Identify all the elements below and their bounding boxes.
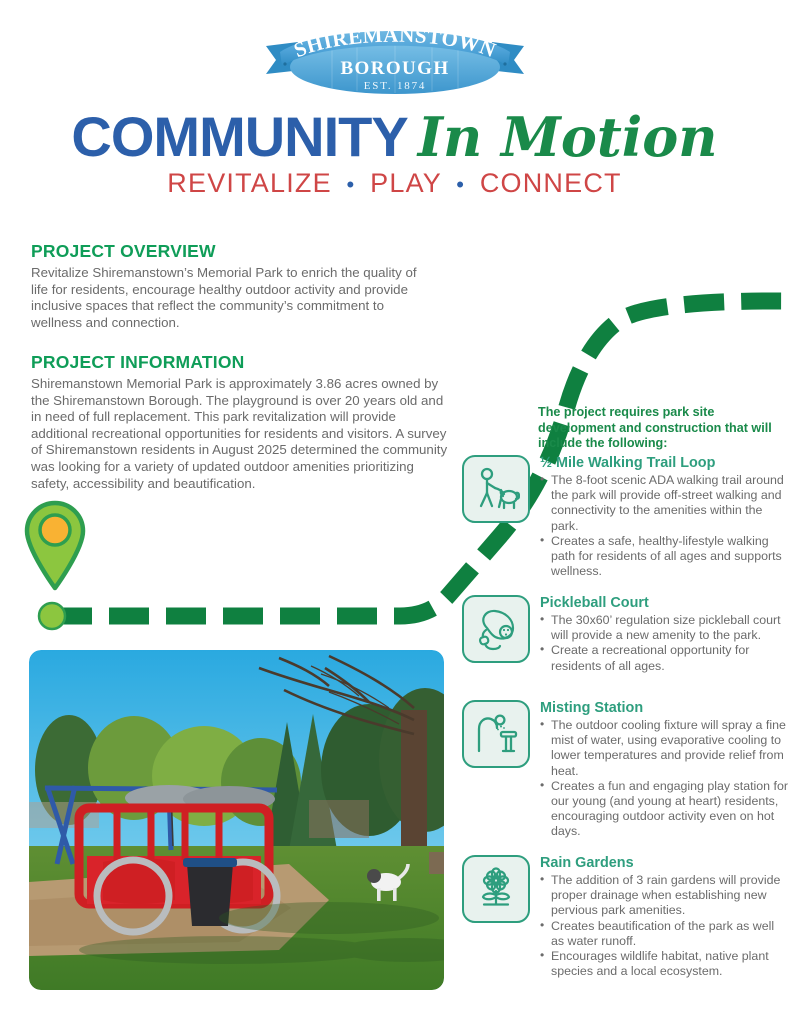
park-photo <box>29 650 444 990</box>
person-walking-dog-icon <box>462 455 530 523</box>
feature-title: Rain Gardens <box>540 855 789 872</box>
feature-title: Pickleball Court <box>540 595 789 612</box>
logo-mid-text: BOROUGH <box>340 58 449 79</box>
list-item: The 8-foot scenic ADA walking trail arou… <box>540 473 789 534</box>
overview-heading: PROJECT OVERVIEW <box>31 241 216 262</box>
tagline-word-2: PLAY <box>370 168 441 198</box>
feature-misting-station: Misting Station The outdoor cooling fixt… <box>462 700 789 840</box>
tagline-word-1: REVITALIZE <box>167 168 332 198</box>
feature-bullets: The 8-foot scenic ADA walking trail arou… <box>540 473 789 579</box>
flyer-page: SHIREMANSTOWN BOROUGH EST. 1874 COMMUNIT… <box>0 0 789 1024</box>
title-main: COMMUNITY <box>71 105 407 168</box>
list-item: Creates beautification of the park as we… <box>540 919 789 949</box>
trail-start-dot <box>39 603 65 629</box>
list-item: Creates a fun and engaging play station … <box>540 779 789 840</box>
logo-banner-svg: SHIREMANSTOWN BOROUGH EST. 1874 <box>262 22 528 100</box>
list-item: Encourages wildlife habitat, native plan… <box>540 949 789 979</box>
logo-bottom-text: EST. 1874 <box>363 80 425 92</box>
feature-bullets: The outdoor cooling fixture will spray a… <box>540 718 789 840</box>
list-item: The 30x60’ regulation size pickleball co… <box>540 613 789 643</box>
overview-body: Revitalize Shiremanstown’s Memorial Park… <box>31 265 435 331</box>
feature-bullets: The 30x60’ regulation size pickleball co… <box>540 613 789 674</box>
feature-title: Misting Station <box>540 700 789 717</box>
feature-walking-trail: ½ Mile Walking Trail Loop The 8-foot sce… <box>462 455 789 579</box>
list-item: The addition of 3 rain gardens will prov… <box>540 873 789 919</box>
feature-title: ½ Mile Walking Trail Loop <box>540 455 789 472</box>
information-body: Shiremanstown Memorial Park is approxima… <box>31 376 449 492</box>
park-photo-illustration <box>29 650 444 990</box>
requirements-intro: The project requires park site developme… <box>538 405 776 452</box>
tagline-separator-1: • <box>341 172 362 197</box>
list-item: The outdoor cooling fixture will spray a… <box>540 718 789 779</box>
tagline-word-3: CONNECT <box>480 168 622 198</box>
flower-icon <box>462 855 530 923</box>
list-item: Create a recreational opportunity for re… <box>540 643 789 673</box>
tagline-separator-2: • <box>450 172 471 197</box>
feature-pickleball-court: Pickleball Court The 30x60’ regulation s… <box>462 595 789 674</box>
misting-station-icon <box>462 700 530 768</box>
feature-bullets: The addition of 3 rain gardens will prov… <box>540 873 789 979</box>
feature-rain-gardens: Rain Gardens The addition of 3 rain gard… <box>462 855 789 979</box>
map-pin-icon <box>24 500 86 597</box>
information-heading: PROJECT INFORMATION <box>31 352 244 373</box>
pickleball-paddle-icon <box>462 595 530 663</box>
title-script: In Motion <box>418 105 718 169</box>
borough-logo: SHIREMANSTOWN BOROUGH EST. 1874 <box>0 22 789 100</box>
page-title: COMMUNITYIn Motion <box>0 104 789 169</box>
list-item: Creates a safe, healthy-lifestyle walkin… <box>540 534 789 580</box>
tagline: REVITALIZE • PLAY • CONNECT <box>0 168 789 199</box>
